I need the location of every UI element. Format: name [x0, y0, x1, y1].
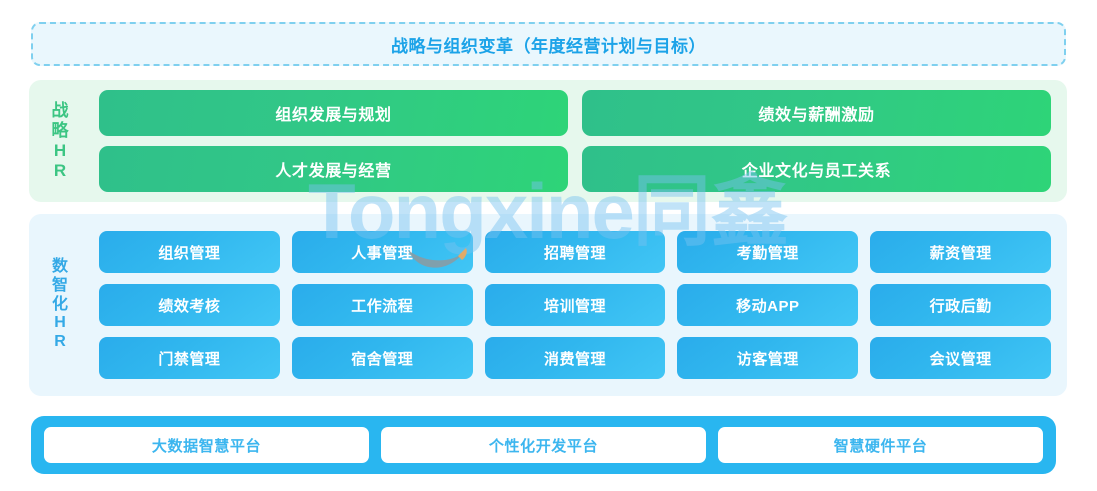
digital-card[interactable]: 薪资管理: [870, 231, 1051, 273]
digital-card-grid: 组织管理 人事管理 招聘管理 考勤管理 薪资管理 绩效考核 工作流程 培训管理 …: [91, 214, 1067, 396]
digital-card[interactable]: 会议管理: [870, 337, 1051, 379]
digital-card[interactable]: 绩效考核: [99, 284, 280, 326]
digital-card[interactable]: 工作流程: [292, 284, 473, 326]
digital-card[interactable]: 人事管理: [292, 231, 473, 273]
strategy-card[interactable]: 组织发展与规划: [99, 90, 568, 136]
strategy-label-char-0: 战: [52, 101, 69, 121]
strategy-hr-section: 战 略 H R 组织发展与规划 绩效与薪酬激励 人才发展与经营 企业文化与员工关…: [29, 80, 1067, 202]
strategy-card[interactable]: 人才发展与经营: [99, 146, 568, 192]
platform-card[interactable]: 智慧硬件平台: [718, 427, 1043, 463]
strategy-card[interactable]: 企业文化与员工关系: [582, 146, 1051, 192]
strategy-label-char-3: R: [54, 161, 66, 181]
digital-card[interactable]: 门禁管理: [99, 337, 280, 379]
digital-card[interactable]: 行政后勤: [870, 284, 1051, 326]
digital-label-char-4: R: [54, 333, 66, 352]
digital-label-char-0: 数: [52, 258, 68, 277]
platform-card[interactable]: 个性化开发平台: [381, 427, 706, 463]
digital-card[interactable]: 宿舍管理: [292, 337, 473, 379]
digital-card[interactable]: 招聘管理: [485, 231, 666, 273]
strategy-hr-label: 战 略 H R: [29, 101, 91, 181]
strategy-label-char-1: 略: [52, 121, 69, 141]
digital-hr-section: 数 智 化 H R 组织管理 人事管理 招聘管理 考勤管理 薪资管理 绩效考核 …: [29, 214, 1067, 396]
digital-card[interactable]: 移动APP: [677, 284, 858, 326]
strategy-label-char-2: H: [54, 141, 66, 161]
digital-card[interactable]: 考勤管理: [677, 231, 858, 273]
platform-bar: 大数据智慧平台 个性化开发平台 智慧硬件平台: [31, 416, 1056, 474]
hr-architecture-diagram: Tongxine同鑫 战略与组织变革（年度经营计划与目标） 战 略 H R 组织…: [0, 0, 1097, 491]
digital-hr-label: 数 智 化 H R: [29, 258, 91, 352]
platform-card[interactable]: 大数据智慧平台: [44, 427, 369, 463]
digital-card[interactable]: 组织管理: [99, 231, 280, 273]
digital-label-char-2: 化: [52, 296, 68, 315]
digital-label-char-3: H: [54, 314, 66, 333]
strategy-banner[interactable]: 战略与组织变革（年度经营计划与目标）: [31, 22, 1066, 66]
digital-card[interactable]: 消费管理: [485, 337, 666, 379]
strategy-banner-title: 战略与组织变革（年度经营计划与目标）: [391, 32, 706, 57]
digital-card[interactable]: 培训管理: [485, 284, 666, 326]
strategy-card[interactable]: 绩效与薪酬激励: [582, 90, 1051, 136]
strategy-card-grid: 组织发展与规划 绩效与薪酬激励 人才发展与经营 企业文化与员工关系: [91, 80, 1067, 202]
digital-label-char-1: 智: [52, 277, 68, 296]
digital-card[interactable]: 访客管理: [677, 337, 858, 379]
